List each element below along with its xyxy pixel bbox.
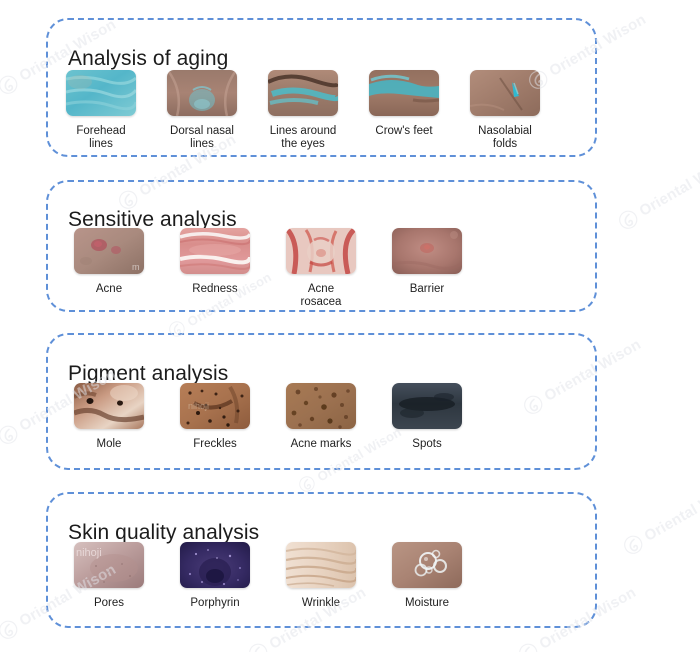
card-acne-rosacea[interactable]: Acne rosacea (286, 228, 356, 309)
card-label: Mole (97, 438, 122, 451)
panel-skin-quality-analysis: Skin quality analysis nihoji Pores (46, 492, 597, 628)
card-list: Mole nihoji (74, 383, 462, 451)
nasolabial-folds-thumbnail (470, 70, 540, 116)
forehead-lines-thumbnail (66, 70, 136, 116)
lines-around-the-eyes-thumbnail (268, 70, 338, 116)
acne-thumbnail: m (74, 228, 144, 274)
card-moisture[interactable]: Moisture (392, 542, 462, 610)
swirl-logo-icon (0, 617, 21, 643)
crows-feet-thumbnail (369, 70, 439, 116)
card-label: Redness (192, 283, 237, 296)
watermark-text: Oriental Wison (642, 476, 700, 545)
swirl-logo-icon (0, 422, 21, 448)
card-label: Porphyrin (190, 597, 239, 610)
porphyrin-thumbnail (180, 542, 250, 588)
card-label: Freckles (193, 438, 236, 451)
card-forehead-lines[interactable]: Forehead lines (66, 70, 136, 151)
swirl-logo-icon (515, 640, 541, 652)
panel-title: Analysis of aging (68, 47, 228, 71)
card-label: Moisture (405, 597, 449, 610)
card-label: Acne rosacea (286, 283, 356, 309)
moisture-thumbnail (392, 542, 462, 588)
watermark-text: Oriental Wison (637, 151, 700, 220)
watermark: Oriental Wison (620, 475, 700, 558)
wrinkle-thumbnail (286, 542, 356, 588)
card-crows-feet[interactable]: Crow's feet (369, 70, 439, 151)
card-wrinkle[interactable]: Wrinkle (286, 542, 356, 610)
svg-text:nihoji: nihoji (188, 401, 209, 411)
card-redness[interactable]: Redness (180, 228, 250, 309)
card-label: Lines around the eyes (270, 125, 337, 151)
pores-thumbnail: nihoji (74, 542, 144, 588)
card-list: nihoji Pores (74, 542, 462, 610)
swirl-logo-icon (0, 72, 21, 98)
card-freckles[interactable]: nihoji Freckles (180, 383, 250, 451)
card-acne-marks[interactable]: Acne marks (286, 383, 356, 451)
card-list: m Acne Redness (74, 228, 462, 309)
swirl-logo-icon (245, 640, 271, 652)
card-label: Barrier (410, 283, 445, 296)
barrier-thumbnail (392, 228, 462, 274)
card-label: Forehead lines (66, 125, 136, 151)
dorsal-nasal-lines-thumbnail (167, 70, 237, 116)
card-porphyrin[interactable]: Porphyrin (180, 542, 250, 610)
svg-text:nihoji: nihoji (76, 547, 102, 559)
mole-thumbnail (74, 383, 144, 429)
card-acne[interactable]: m Acne (74, 228, 144, 309)
acne-marks-thumbnail (286, 383, 356, 429)
acne-rosacea-thumbnail (286, 228, 356, 274)
svg-text:m: m (132, 262, 140, 272)
card-label: Wrinkle (302, 597, 340, 610)
swirl-logo-icon (615, 207, 641, 233)
card-label: Acne marks (291, 438, 352, 451)
card-label: Nasolabial folds (470, 125, 540, 151)
swirl-logo-icon (620, 532, 646, 558)
card-nasolabial-folds[interactable]: Nasolabial folds (470, 70, 540, 151)
card-mole[interactable]: Mole (74, 383, 144, 451)
card-label: Acne (96, 283, 122, 296)
panel-analysis-of-aging: Analysis of aging Forehead lines (46, 18, 597, 157)
card-label: Spots (412, 438, 441, 451)
card-dorsal-nasal-lines[interactable]: Dorsal nasal lines (167, 70, 237, 151)
card-label: Pores (94, 597, 124, 610)
redness-thumbnail (180, 228, 250, 274)
card-list: Forehead lines Dorsal nasal lines (66, 70, 540, 151)
watermark: Oriental Wison (615, 150, 700, 233)
freckles-thumbnail: nihoji (180, 383, 250, 429)
spots-thumbnail (392, 383, 462, 429)
panel-pigment-analysis: Pigment analysis Mole (46, 333, 597, 470)
card-pores[interactable]: nihoji Pores (74, 542, 144, 610)
card-spots[interactable]: Spots (392, 383, 462, 451)
card-label: Crow's feet (375, 125, 432, 138)
panel-sensitive-analysis: Sensitive analysis m Acne (46, 180, 597, 312)
card-barrier[interactable]: Barrier (392, 228, 462, 309)
card-label: Dorsal nasal lines (167, 125, 237, 151)
card-lines-around-the-eyes[interactable]: Lines around the eyes (268, 70, 338, 151)
